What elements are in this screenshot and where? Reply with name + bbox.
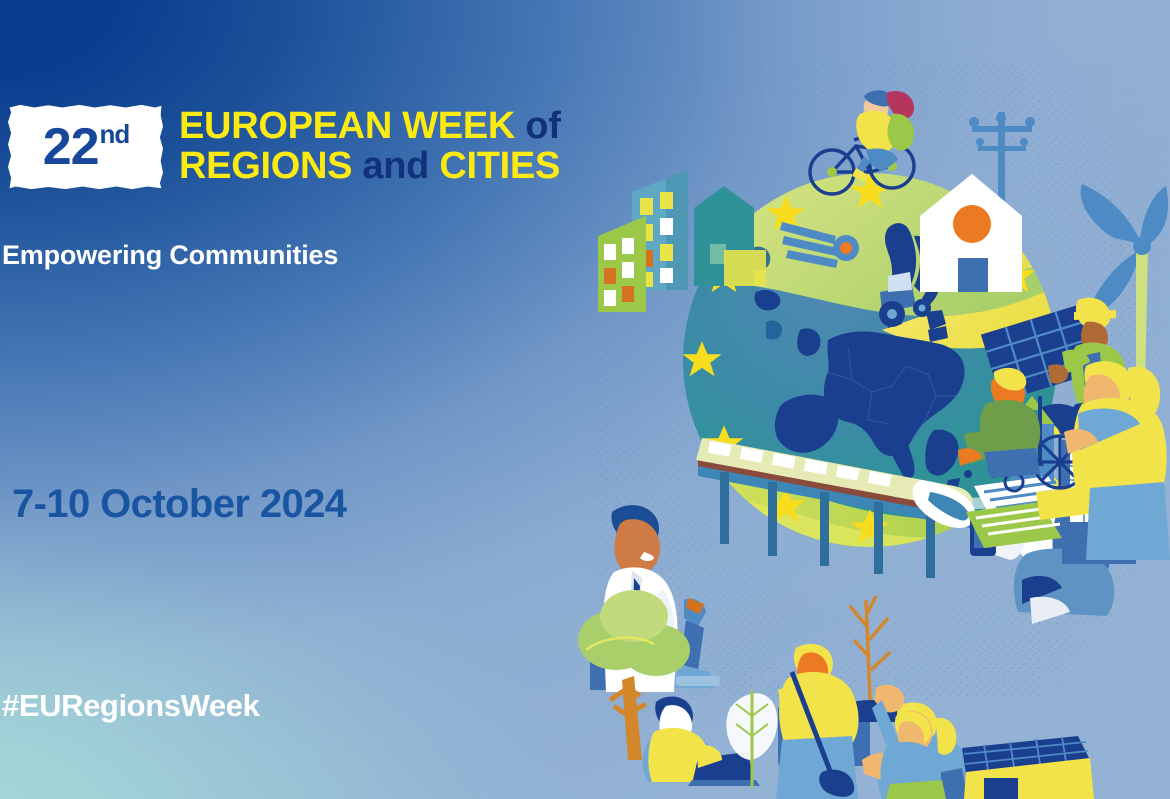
title-cities: CITIES [439, 145, 560, 187]
edition-badge-text: 22nd [8, 104, 163, 190]
barn-with-solar-roof [962, 736, 1094, 799]
event-logo: 22nd EUROPEAN WEEK of REGIONS and CITIES [8, 104, 561, 190]
edition-number: 22 [43, 121, 99, 173]
event-dates: 7-10 October 2024 [12, 482, 346, 527]
title-regions: REGIONS [179, 145, 352, 187]
banner-text-column: 22nd EUROPEAN WEEK of REGIONS and CITIES… [0, 0, 620, 799]
edition-ordinal: nd [100, 121, 130, 147]
title-conjunction-of: of [525, 105, 560, 147]
event-tagline: Empowering Communities [2, 240, 338, 271]
event-title-line-2: REGIONS and CITIES [179, 147, 561, 187]
title-conjunction-and: and [362, 145, 429, 187]
edition-badge: 22nd [8, 104, 163, 190]
event-hashtag: #EURegionsWeek [2, 688, 259, 724]
europe-globe-communities-illustration [570, 0, 1170, 799]
title-european-week: EUROPEAN WEEK [179, 105, 515, 147]
event-title: EUROPEAN WEEK of REGIONS and CITIES [179, 104, 561, 186]
event-title-line-1: EUROPEAN WEEK of [179, 107, 561, 147]
